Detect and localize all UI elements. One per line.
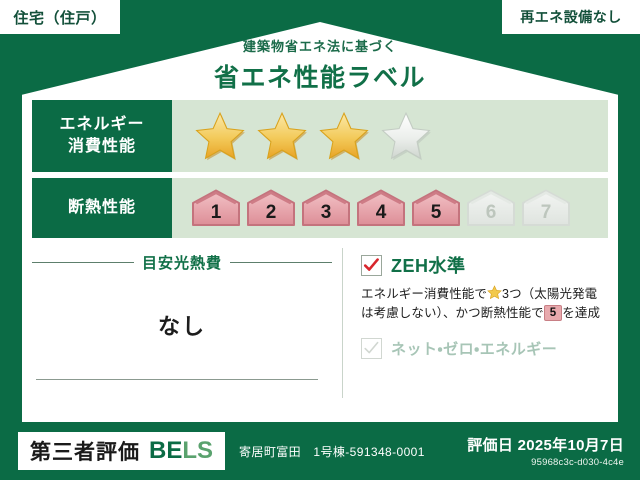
- insulation-grade-number: 6: [486, 203, 497, 228]
- star-icon: [487, 285, 502, 300]
- insulation-grade-5: 5: [410, 188, 462, 228]
- energy-performance-body: [172, 100, 608, 172]
- utility-cost-bottom-rule: [36, 379, 318, 380]
- energy-performance-row: エネルギー 消費性能: [32, 100, 608, 172]
- zeh-checkbox[interactable]: [361, 255, 382, 276]
- label-title-block: 建築物省エネ法に基づく 省エネ性能ラベル: [0, 36, 640, 94]
- star-icon-filled: [256, 111, 308, 161]
- insulation-grade-number: 3: [321, 203, 332, 228]
- zeh-heading: ZEH水準: [361, 252, 608, 278]
- insulation-grade-7: 7: [520, 188, 572, 228]
- energy-label-line2: 消費性能: [68, 136, 136, 158]
- evaluation-id: 95968c3c-d030-4c4e: [467, 457, 624, 468]
- star-icon-filled: [318, 111, 370, 161]
- bels-energy-label: 住宅（住戸） 再エネ設備なし 建築物省エネ法に基づく 省エネ性能ラベル エネルギ…: [0, 0, 640, 480]
- star-icon-filled: [194, 111, 246, 161]
- insulation-grade-number: 2: [266, 203, 277, 228]
- net-zero-energy-label: ネット・ゼロ・エネルギー: [391, 338, 557, 359]
- bels-logo-en: BELS: [149, 437, 213, 465]
- building-name: 寄居町富田 1号棟-591348-0001: [239, 443, 425, 460]
- label-content: エネルギー 消費性能 断熱性能 1234567 目安光熱費 なし: [32, 100, 608, 400]
- zeh-description: エネルギー消費性能で 3つ（太陽光発電は考慮しない）、かつ断熱性能で5を達成: [361, 285, 608, 324]
- label-footer: 第三者評価 BELS 寄居町富田 1号棟-591348-0001 評価日 202…: [0, 422, 640, 480]
- insulation-grade-2: 2: [245, 188, 297, 228]
- utility-cost-value: なし: [32, 309, 332, 341]
- insulation-grade-number: 5: [431, 203, 442, 228]
- star-icon-empty: [380, 111, 432, 161]
- evaluation-date: 評価日 2025年10月7日: [467, 434, 624, 455]
- zeh-desc-part1: エネルギー消費性能で: [361, 287, 487, 301]
- utility-cost-section: 目安光熱費 なし: [32, 248, 342, 398]
- insulation-performance-row: 断熱性能 1234567: [32, 178, 608, 238]
- insulation-performance-body: 1234567: [172, 178, 608, 238]
- bels-logo-be: BE: [149, 437, 182, 464]
- insulation-grade-number: 7: [541, 203, 552, 228]
- bels-logo: 第三者評価 BELS: [18, 432, 225, 470]
- insulation-grade-4: 4: [355, 188, 407, 228]
- rule-right: [230, 262, 332, 263]
- title-subtitle: 建築物省エネ法に基づく: [0, 36, 640, 55]
- bels-logo-ls: LS: [182, 437, 213, 464]
- energy-performance-label: エネルギー 消費性能: [32, 100, 172, 172]
- insulation-performance-label: 断熱性能: [32, 178, 172, 238]
- energy-label-line1: エネルギー: [59, 114, 144, 136]
- insulation-grade-scale: 1234567: [190, 188, 572, 228]
- insulation-grade-1: 1: [190, 188, 242, 228]
- utility-cost-heading-text: 目安光熱費: [142, 252, 222, 273]
- page-title: 省エネ性能ラベル: [0, 58, 640, 94]
- zeh-section: ZEH水準 エネルギー消費性能で 3つ（太陽光発電は考慮しない）、かつ断熱性能で…: [342, 248, 608, 398]
- evaluation-info: 評価日 2025年10月7日 95968c3c-d030-4c4e: [467, 434, 624, 468]
- renewable-energy-tag: 再エネ設備なし: [502, 0, 640, 34]
- bels-logo-jp: 第三者評価: [30, 436, 140, 466]
- net-zero-energy-row: ネット・ゼロ・エネルギー: [361, 338, 608, 359]
- check-icon: [363, 257, 380, 274]
- insulation-grade-number: 1: [211, 203, 222, 228]
- zeh-desc-part3: を達成: [562, 306, 600, 320]
- lower-section: 目安光熱費 なし ZEH水準 エネルギー消費性能で: [32, 248, 608, 398]
- insulation-grade-6: 6: [465, 188, 517, 228]
- zeh-title: ZEH水準: [391, 252, 466, 278]
- star-rating: [194, 111, 432, 161]
- insulation-grade-3: 3: [300, 188, 352, 228]
- zeh-desc-grade-badge: 5: [544, 305, 563, 321]
- net-zero-energy-checkbox[interactable]: [361, 338, 382, 359]
- insulation-grade-number: 4: [376, 203, 387, 228]
- utility-cost-heading: 目安光熱費: [32, 252, 332, 273]
- check-icon-disabled: [363, 340, 380, 357]
- building-type-tag: 住宅（住戸）: [0, 0, 120, 34]
- rule-left: [32, 262, 134, 263]
